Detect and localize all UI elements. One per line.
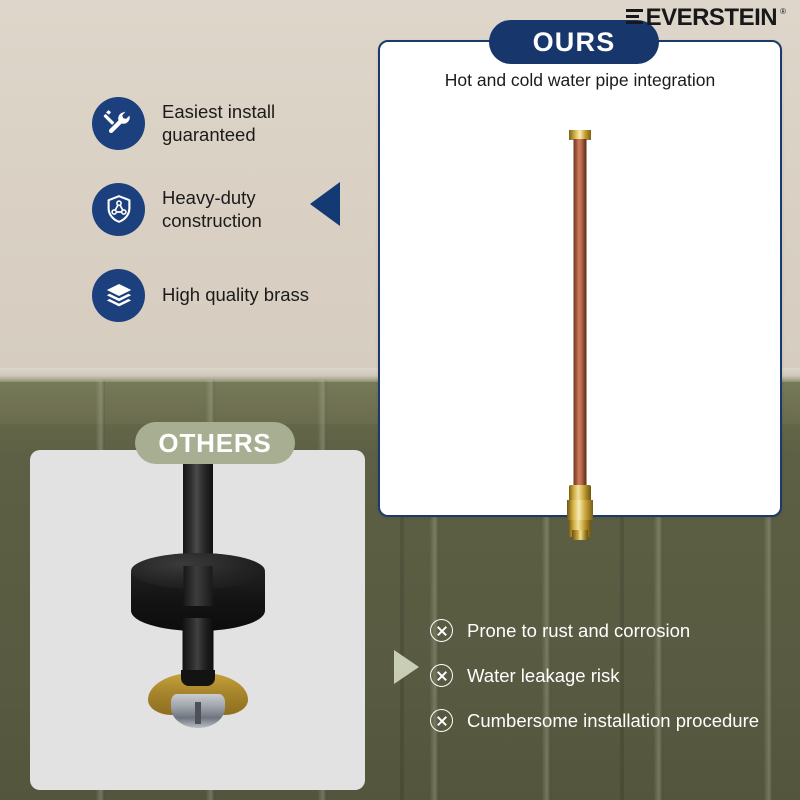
feature-item-easiest-install: Easiest install guaranteed xyxy=(92,80,362,166)
copper-pipe-product-image xyxy=(550,122,610,542)
others-card xyxy=(30,450,365,790)
brand-name: EVERSTEIN xyxy=(646,6,778,30)
feature-item-high-quality-brass: High quality brass xyxy=(92,252,362,338)
competitor-chrome-slot xyxy=(195,702,201,724)
infographic-canvas: EVERSTEIN ® Easiest install guaranteed xyxy=(0,0,800,800)
cons-list: Prone to rust and corrosion Water leakag… xyxy=(430,608,790,743)
con-item-leakage: Water leakage risk xyxy=(430,653,790,698)
feature-label: Easiest install guaranteed xyxy=(162,100,327,146)
con-label: Cumbersome installation procedure xyxy=(467,710,759,732)
others-badge: OTHERS xyxy=(135,422,295,464)
ours-badge-label: OURS xyxy=(533,27,616,58)
ours-card: Hot and cold water pipe integration xyxy=(378,40,782,517)
x-circle-icon xyxy=(430,709,453,732)
pipe-threaded-tip xyxy=(572,530,588,540)
pipe-hex-nut xyxy=(567,500,593,520)
ours-caption: Hot and cold water pipe integration xyxy=(380,70,780,91)
feature-label: Heavy-duty construction xyxy=(162,186,327,232)
con-item-rust: Prone to rust and corrosion xyxy=(430,608,790,653)
feature-label: High quality brass xyxy=(162,283,309,306)
tools-wrench-screwdriver-icon xyxy=(92,97,145,150)
competitor-pipe-stem-mid xyxy=(183,566,212,606)
feature-item-heavy-duty: Heavy-duty construction xyxy=(92,166,362,252)
con-label: Water leakage risk xyxy=(467,665,620,687)
features-list: Easiest install guaranteed Heavy-duty co… xyxy=(92,80,362,338)
competitor-clamp-notch xyxy=(181,670,215,686)
competitor-product-image xyxy=(118,458,278,768)
others-badge-label: OTHERS xyxy=(158,428,271,459)
x-circle-icon xyxy=(430,664,453,687)
con-item-installation: Cumbersome installation procedure xyxy=(430,698,790,743)
arrow-to-cons-icon xyxy=(394,650,419,684)
con-label: Prone to rust and corrosion xyxy=(467,620,690,642)
logo-e-mark-icon xyxy=(626,9,643,24)
x-circle-icon xyxy=(430,619,453,642)
layers-stack-icon xyxy=(92,269,145,322)
shield-molecule-icon xyxy=(92,183,145,236)
pipe-copper-body xyxy=(574,139,587,489)
competitor-pipe-stem-top xyxy=(183,458,213,563)
brand-logo: EVERSTEIN ® xyxy=(626,4,786,30)
trademark-symbol: ® xyxy=(780,7,786,16)
